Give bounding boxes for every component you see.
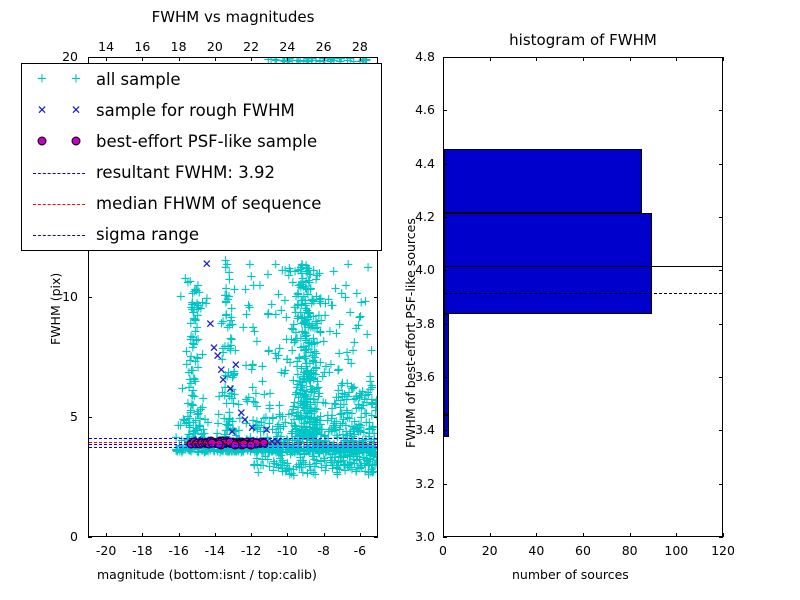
left-top-tick: 20	[207, 39, 223, 54]
legend-label: best-effort PSF-like sample	[96, 132, 317, 151]
tick-mark	[179, 533, 180, 537]
left-chart-title: FWHM vs magnitudes	[88, 8, 378, 26]
left-y-tick: 0	[70, 529, 78, 544]
tick-mark	[88, 417, 92, 418]
right-x-tick: 100	[664, 543, 688, 558]
all-sample-point: +	[262, 454, 273, 467]
tick-mark	[106, 533, 107, 537]
left-y-axis-label: FWHM (pix)	[48, 273, 63, 345]
legend-label: all sample	[96, 70, 181, 89]
left-top-tick: 18	[171, 39, 187, 54]
all-sample-point: +	[331, 328, 342, 341]
all-sample-point: +	[175, 291, 186, 304]
left-x-tick: -18	[132, 543, 152, 558]
tick-mark	[723, 533, 724, 537]
tick-mark	[287, 533, 288, 537]
rough-fwhm-point: ✕	[213, 350, 223, 362]
all-sample-point: +	[248, 396, 259, 409]
all-sample-point: +	[348, 423, 359, 436]
all-sample-point: +	[343, 258, 354, 271]
all-sample-point: +	[202, 292, 213, 305]
tick-mark	[374, 537, 378, 538]
tick-mark	[719, 164, 723, 165]
tick-mark	[583, 533, 584, 537]
all-sample-point: +	[286, 333, 297, 346]
tick-mark	[630, 57, 631, 61]
tick-mark	[723, 57, 724, 61]
all-sample-point: +	[330, 282, 341, 295]
all-sample-point: +	[349, 336, 360, 349]
all-sample-point: +	[359, 458, 370, 471]
tick-mark	[360, 57, 361, 61]
right-y-axis-label: FWHM of best-effort PSF-like sources	[403, 218, 418, 448]
tick-mark	[251, 533, 252, 537]
all-sample-point: +	[270, 348, 281, 361]
reference-line	[89, 444, 377, 445]
all-sample-point: +	[327, 299, 338, 312]
fwhm-histogram-axes	[443, 57, 723, 537]
tick-mark	[106, 57, 107, 61]
all-sample-point: +	[282, 354, 293, 367]
right-y-tick: 4.2	[415, 209, 435, 224]
all-sample-point: +	[273, 462, 284, 475]
right-y-tick: 4.0	[415, 262, 435, 277]
tick-mark	[443, 533, 444, 537]
histogram-bar	[444, 314, 449, 415]
right-y-tick: 3.6	[415, 369, 435, 384]
right-y-tick: 3.2	[415, 476, 435, 491]
all-sample-point: +	[192, 321, 203, 334]
all-sample-point: +	[222, 258, 233, 271]
rough-fwhm-point: ✕	[231, 359, 241, 371]
all-sample-point: +	[301, 408, 312, 421]
all-sample-point: +	[363, 261, 374, 274]
right-x-tick: 40	[528, 543, 544, 558]
all-sample-point: +	[190, 284, 201, 297]
all-sample-point: +	[345, 306, 356, 319]
legend-item-psf-like: best-effort PSF-like sample	[22, 126, 381, 157]
tick-mark	[324, 57, 325, 61]
legend-item-sigma-range: sigma range	[22, 219, 381, 250]
figure-canvas: FWHM vs magnitudes +++++++++++++++++++++…	[0, 0, 800, 600]
tick-mark	[360, 533, 361, 537]
legend-label: sample for rough FWHM	[96, 101, 295, 120]
tick-mark	[490, 57, 491, 61]
reference-line	[89, 438, 377, 439]
left-x-tick: -8	[317, 543, 329, 558]
tick-mark	[719, 430, 723, 431]
right-y-tick: 4.4	[415, 156, 435, 171]
all-sample-point: +	[353, 320, 364, 333]
tick-mark	[719, 217, 723, 218]
tick-mark	[490, 533, 491, 537]
all-sample-point: +	[307, 294, 318, 307]
tick-mark	[374, 297, 378, 298]
left-x-tick: -16	[168, 543, 188, 558]
tick-mark	[443, 484, 447, 485]
all-sample-point: +	[346, 357, 357, 370]
left-x-tick: -10	[277, 543, 297, 558]
tick-mark	[443, 270, 447, 271]
all-sample-point: +	[244, 258, 255, 271]
all-sample-point: +	[340, 459, 351, 472]
tick-mark	[443, 110, 447, 111]
left-top-tick: 22	[243, 39, 259, 54]
tick-mark	[443, 164, 447, 165]
right-plot-area	[444, 58, 722, 536]
tick-mark	[719, 484, 723, 485]
left-x-tick: -20	[96, 543, 116, 558]
rough-fwhm-point: ✕	[202, 258, 212, 270]
all-sample-point: +	[247, 359, 258, 372]
rough-fwhm-point: ✕	[240, 414, 250, 426]
all-sample-point: +	[195, 412, 206, 425]
right-y-tick: 3.0	[415, 529, 435, 544]
right-x-tick: 60	[575, 543, 591, 558]
all-sample-point: +	[248, 280, 259, 293]
all-sample-point: +	[270, 259, 281, 272]
all-sample-point: +	[361, 389, 372, 402]
tick-mark	[374, 57, 378, 58]
tick-mark	[142, 57, 143, 61]
left-y-tick: 20	[62, 49, 78, 64]
legend-item-rough-fwhm: ✕ ✕ sample for rough FWHM	[22, 95, 381, 126]
legend-label: resultant FWHM: 3.92	[96, 163, 275, 182]
left-top-tick: 16	[134, 39, 150, 54]
all-sample-point: +	[314, 310, 325, 323]
right-x-tick: 20	[482, 543, 498, 558]
left-x-axis-label: magnitude (bottom:isnt / top:calib)	[97, 567, 317, 582]
tick-mark	[583, 57, 584, 61]
all-sample-point: +	[299, 316, 310, 329]
legend-item-resultant-fwhm: resultant FWHM: 3.92	[22, 157, 381, 188]
right-y-tick: 3.8	[415, 316, 435, 331]
all-sample-point: +	[316, 424, 327, 437]
all-sample-point: +	[279, 367, 290, 380]
tick-mark	[179, 57, 180, 61]
all-sample-point: +	[340, 292, 351, 305]
rough-fwhm-point: ✕	[225, 383, 235, 395]
all-sample-point: +	[287, 277, 298, 290]
right-x-axis-label: number of sources	[512, 567, 629, 582]
left-x-tick: -12	[241, 543, 261, 558]
tick-mark	[719, 537, 723, 538]
tick-mark	[719, 377, 723, 378]
x-marker-icon: ✕ ✕	[22, 95, 96, 126]
all-sample-point: +	[295, 389, 306, 402]
all-sample-point: +	[243, 300, 254, 313]
tick-mark	[676, 57, 677, 61]
tick-mark	[215, 57, 216, 61]
all-sample-point: +	[284, 262, 295, 275]
histogram-bar	[444, 415, 449, 436]
psf-like-point	[207, 438, 216, 447]
right-y-tick: 3.4	[415, 422, 435, 437]
tick-mark	[287, 57, 288, 61]
right-x-tick: 120	[711, 543, 735, 558]
tick-mark	[215, 533, 216, 537]
all-sample-point: +	[191, 334, 202, 347]
tick-mark	[443, 217, 447, 218]
circle-marker-icon	[22, 126, 96, 157]
right-chart-title: histogram of FWHM	[443, 31, 723, 49]
legend-box: + + all sample ✕ ✕ sample for rough FWHM…	[21, 63, 382, 251]
legend-item-all-sample: + + all sample	[22, 64, 381, 95]
tick-mark	[443, 324, 447, 325]
all-sample-point: +	[221, 289, 232, 302]
left-top-tick: 26	[316, 39, 332, 54]
tick-mark	[142, 533, 143, 537]
left-x-tick: -6	[354, 543, 366, 558]
left-top-tick: 28	[352, 39, 368, 54]
tick-mark	[443, 57, 444, 61]
red-dashed-line-icon	[22, 188, 96, 219]
all-sample-point: +	[257, 360, 268, 373]
right-x-tick: 80	[622, 543, 638, 558]
right-x-tick: 0	[439, 543, 447, 558]
left-x-tick: -14	[205, 543, 225, 558]
all-sample-point: +	[337, 388, 348, 401]
all-sample-point: +	[291, 290, 302, 303]
all-sample-point: +	[356, 297, 367, 310]
all-sample-point: +	[238, 321, 249, 334]
median-line	[444, 266, 722, 267]
tick-mark	[443, 377, 447, 378]
tick-mark	[251, 57, 252, 61]
all-sample-point: +	[333, 364, 344, 377]
all-sample-point: +	[263, 308, 274, 321]
all-sample-point: +	[276, 304, 287, 317]
tick-mark	[88, 57, 92, 58]
all-sample-point: +	[198, 393, 209, 406]
tick-mark	[88, 537, 92, 538]
all-sample-point: +	[251, 336, 262, 349]
all-sample-point: +	[265, 387, 276, 400]
tick-mark	[536, 57, 537, 61]
all-sample-point: +	[366, 344, 377, 357]
tick-mark	[374, 417, 378, 418]
all-sample-point: +	[181, 346, 192, 359]
all-sample-point: +	[187, 303, 198, 316]
all-sample-point: +	[328, 265, 339, 278]
right-y-tick: 4.6	[415, 102, 435, 117]
all-sample-point: +	[311, 457, 322, 470]
tick-mark	[443, 430, 447, 431]
histogram-bar	[444, 213, 652, 314]
all-sample-point: +	[225, 332, 236, 345]
legend-label: median FHWM of sequence	[96, 194, 321, 213]
histogram-bar	[444, 149, 642, 213]
reference-line	[89, 442, 377, 443]
all-sample-point: +	[187, 398, 198, 411]
left-top-tick: 24	[279, 39, 295, 54]
right-y-tick: 4.8	[415, 49, 435, 64]
left-y-tick: 5	[70, 409, 78, 424]
tick-mark	[536, 533, 537, 537]
all-sample-point: +	[297, 259, 308, 272]
rough-fwhm-point: ✕	[205, 318, 215, 330]
legend-item-median-fwhm: median FHWM of sequence	[22, 188, 381, 219]
blue-dashdot-line-icon	[22, 219, 96, 250]
left-y-tick: 10	[62, 289, 78, 304]
all-sample-point: +	[298, 457, 309, 470]
all-sample-point: +	[248, 322, 259, 335]
tick-mark	[324, 533, 325, 537]
all-sample-point: +	[300, 343, 311, 356]
reference-line	[89, 447, 377, 448]
all-sample-point: +	[273, 418, 284, 431]
tick-mark	[630, 533, 631, 537]
resultant-line	[444, 293, 722, 294]
tick-mark	[719, 110, 723, 111]
all-sample-point: +	[314, 388, 325, 401]
tick-mark	[719, 324, 723, 325]
left-top-tick: 14	[98, 39, 114, 54]
legend-label: sigma range	[96, 225, 199, 244]
all-sample-point: +	[225, 314, 236, 327]
tick-mark	[443, 537, 447, 538]
plus-marker-icon: + +	[22, 64, 96, 95]
tick-mark	[719, 270, 723, 271]
all-sample-point: +	[183, 366, 194, 379]
tick-mark	[676, 533, 677, 537]
blue-dashed-line-icon	[22, 157, 96, 188]
tick-mark	[88, 297, 92, 298]
all-sample-point: +	[341, 279, 352, 292]
